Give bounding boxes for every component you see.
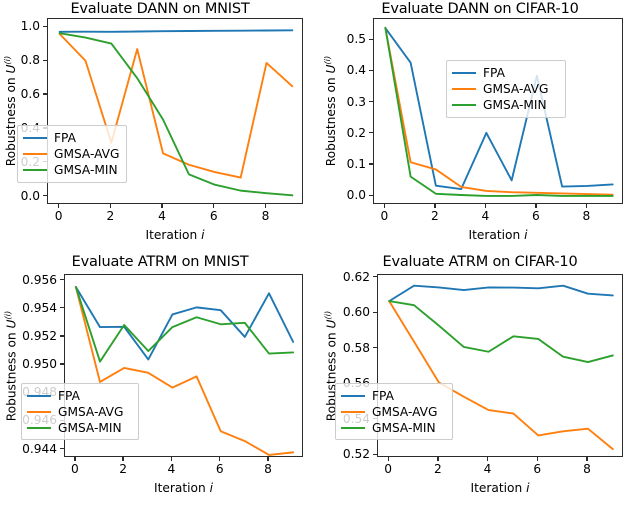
chart-title: Evaluate DANN on MNIST <box>0 0 320 18</box>
x-tick-label: 0 <box>71 462 79 476</box>
legend-color-swatch <box>27 395 51 397</box>
x-axis-label: Iteration i <box>64 481 303 495</box>
legend-color-swatch <box>23 137 47 139</box>
y-tickmark <box>60 279 64 280</box>
y-axis-label: Robustness on U(i) <box>2 8 18 214</box>
x-tick-label: 2 <box>106 209 114 223</box>
legend-color-swatch <box>23 169 47 171</box>
x-tickmark <box>122 457 123 461</box>
legend-item-fpa[interactable]: FPA <box>341 388 446 404</box>
legend-item-gmsa-avg[interactable]: GMSA-AVG <box>27 404 132 420</box>
line-gmsa-min <box>76 287 293 362</box>
x-tickmark <box>267 457 268 461</box>
legend-color-swatch <box>341 395 365 397</box>
x-tick-label: 4 <box>481 209 489 223</box>
legend-item-fpa[interactable]: FPA <box>23 130 120 146</box>
x-tickmark <box>535 204 536 208</box>
legend-color-swatch <box>341 427 365 429</box>
y-tickmark <box>373 276 377 277</box>
x-tickmark <box>161 204 162 208</box>
line-fpa <box>389 286 613 301</box>
legend-label: FPA <box>58 390 80 403</box>
x-tickmark <box>586 457 587 461</box>
x-tickmark <box>434 204 435 208</box>
figure-canvas: Evaluate DANN on MNIST0.00.20.40.60.81.0… <box>0 0 640 506</box>
x-tickmark <box>74 457 75 461</box>
legend-color-swatch <box>27 411 51 413</box>
y-tickmark <box>60 363 64 364</box>
y-tickmark <box>43 195 47 196</box>
legend-color-swatch <box>27 427 51 429</box>
x-tickmark <box>388 457 389 461</box>
x-tick-label: 8 <box>264 462 272 476</box>
legend-item-gmsa-min[interactable]: GMSA-MIN <box>452 97 559 113</box>
line-fpa <box>60 30 293 32</box>
x-tickmark <box>58 204 59 208</box>
legend-color-swatch <box>452 88 476 90</box>
legend-label: GMSA-AVG <box>483 83 548 96</box>
chart-title: Evaluate ATRM on MNIST <box>0 253 320 271</box>
x-tick-label: 4 <box>484 462 492 476</box>
legend-item-gmsa-min[interactable]: GMSA-MIN <box>27 420 132 436</box>
x-tickmark <box>171 457 172 461</box>
y-tickmark <box>373 347 377 348</box>
legend-item-gmsa-min[interactable]: GMSA-MIN <box>341 420 446 436</box>
x-tick-label: 4 <box>168 462 176 476</box>
legend-label: GMSA-MIN <box>483 99 547 112</box>
legend-color-swatch <box>341 411 365 413</box>
legend-item-fpa[interactable]: FPA <box>27 388 132 404</box>
legend-item-fpa[interactable]: FPA <box>452 65 559 81</box>
legend-item-gmsa-avg[interactable]: GMSA-AVG <box>452 81 559 97</box>
chart-panel-dann-mnist: Evaluate DANN on MNIST0.00.20.40.60.81.0… <box>0 0 320 253</box>
legend-label: GMSA-MIN <box>58 422 122 435</box>
x-tick-label: 6 <box>532 209 540 223</box>
x-tick-label: 0 <box>55 209 63 223</box>
x-tick-label: 2 <box>119 462 127 476</box>
legend-label: FPA <box>372 390 394 403</box>
y-axis-label: Robustness on U(i) <box>322 8 338 214</box>
chart-title: Evaluate DANN on CIFAR-10 <box>320 0 640 18</box>
legend-color-swatch <box>452 104 476 106</box>
y-tickmark <box>369 70 373 71</box>
legend-color-swatch <box>23 153 47 155</box>
chart-title: Evaluate ATRM on CIFAR-10 <box>320 253 640 271</box>
chart-panel-atrm-cifar10: Evaluate ATRM on CIFAR-100.520.540.560.5… <box>320 253 640 506</box>
x-tickmark <box>110 204 111 208</box>
x-tickmark <box>219 457 220 461</box>
x-tickmark <box>213 204 214 208</box>
x-tick-label: 6 <box>216 462 224 476</box>
legend-label: GMSA-MIN <box>372 422 436 435</box>
x-tickmark <box>487 457 488 461</box>
y-tickmark <box>369 195 373 196</box>
x-tickmark <box>384 204 385 208</box>
chart-legend[interactable]: FPAGMSA-AVGGMSA-MIN <box>335 383 453 440</box>
x-tickmark <box>485 204 486 208</box>
y-tickmark <box>60 335 64 336</box>
y-tickmark <box>373 312 377 313</box>
x-axis-label: Iteration i <box>47 228 303 242</box>
y-tickmark <box>369 163 373 164</box>
legend-label: FPA <box>483 67 505 80</box>
x-tickmark <box>537 457 538 461</box>
y-axis-label: Robustness on U(i) <box>2 264 18 467</box>
chart-panel-atrm-mnist: Evaluate ATRM on MNIST0.9440.9460.9480.9… <box>0 253 320 506</box>
x-tick-label: 8 <box>262 209 270 223</box>
x-tick-label: 8 <box>583 462 591 476</box>
x-tick-label: 0 <box>384 462 392 476</box>
y-tickmark <box>369 101 373 102</box>
x-tick-label: 2 <box>431 209 439 223</box>
x-tickmark <box>437 457 438 461</box>
y-tickmark <box>43 60 47 61</box>
chart-panel-dann-cifar10: Evaluate DANN on CIFAR-100.00.10.20.30.4… <box>320 0 640 253</box>
x-tick-label: 4 <box>158 209 166 223</box>
x-tick-label: 2 <box>434 462 442 476</box>
x-axis-label: Iteration i <box>373 228 623 242</box>
chart-legend[interactable]: FPAGMSA-AVGGMSA-MIN <box>17 125 127 183</box>
legend-label: GMSA-AVG <box>58 406 123 419</box>
legend-item-gmsa-avg[interactable]: GMSA-AVG <box>23 146 120 162</box>
y-tickmark <box>369 132 373 133</box>
legend-label: GMSA-MIN <box>54 164 118 177</box>
legend-label: GMSA-AVG <box>372 406 437 419</box>
x-tick-label: 0 <box>380 209 388 223</box>
y-tickmark <box>60 307 64 308</box>
x-tickmark <box>265 204 266 208</box>
y-tickmark <box>373 454 377 455</box>
x-axis-label: Iteration i <box>377 481 623 495</box>
x-tick-label: 6 <box>210 209 218 223</box>
chart-legend[interactable]: FPAGMSA-AVGGMSA-MIN <box>21 383 139 440</box>
legend-color-swatch <box>452 72 476 74</box>
line-gmsa-min <box>389 301 613 362</box>
y-tickmark <box>43 26 47 27</box>
legend-label: FPA <box>54 132 76 145</box>
legend-item-gmsa-min[interactable]: GMSA-MIN <box>23 162 120 178</box>
x-tick-label: 6 <box>533 462 541 476</box>
y-tickmark <box>43 93 47 94</box>
legend-label: GMSA-AVG <box>54 148 119 161</box>
y-tickmark <box>369 39 373 40</box>
legend-item-gmsa-avg[interactable]: GMSA-AVG <box>341 404 446 420</box>
y-tickmark <box>60 448 64 449</box>
chart-legend[interactable]: FPAGMSA-AVGGMSA-MIN <box>446 60 566 118</box>
x-tick-label: 8 <box>582 209 590 223</box>
x-tickmark <box>586 204 587 208</box>
